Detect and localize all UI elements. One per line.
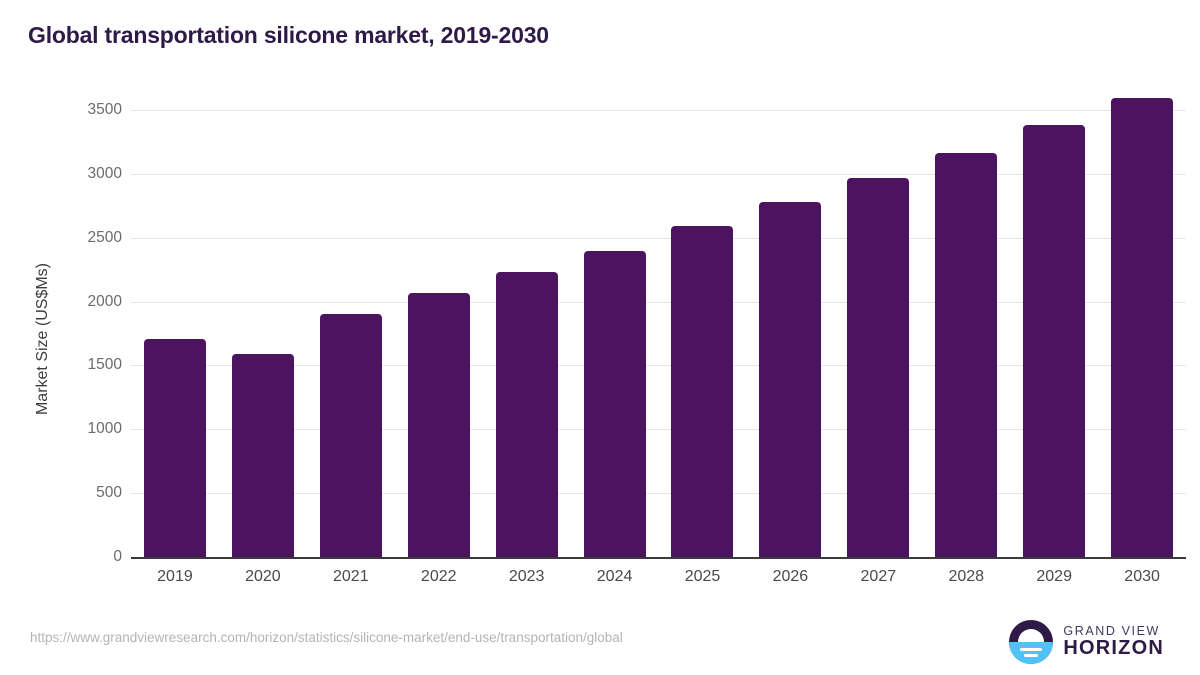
bar-2025[interactable] [671, 226, 733, 557]
bar-slot [659, 110, 747, 557]
bar-2022[interactable] [408, 293, 470, 557]
x-axis-tick-label: 2023 [483, 568, 571, 586]
logo-ray-2 [1024, 654, 1038, 657]
x-axis-line [131, 557, 1186, 559]
bar-slot [1098, 110, 1186, 557]
bar-slot [219, 110, 307, 557]
logo-dome-shape [1018, 629, 1044, 642]
y-axis-tick-labels: 0500100015002000250030003500 [60, 110, 122, 560]
x-axis-tick-label: 2029 [1010, 568, 1098, 586]
y-axis-tick-label: 2500 [60, 229, 122, 247]
plot-area: Market Size (US$Ms) 05001000150020002500… [0, 0, 1200, 605]
bar-slot [395, 110, 483, 557]
y-axis-title: Market Size (US$Ms) [34, 129, 52, 549]
logo-line-2: HORIZON [1063, 638, 1164, 659]
logo-wordmark: GRAND VIEW HORIZON [1063, 625, 1164, 659]
x-axis-tick-label: 2027 [834, 568, 922, 586]
bar-2030[interactable] [1111, 98, 1173, 557]
x-axis-tick-label: 2025 [659, 568, 747, 586]
y-axis-tick-label: 0 [60, 548, 122, 566]
bar-slot [746, 110, 834, 557]
x-axis-tick-label: 2021 [307, 568, 395, 586]
bar-slot [571, 110, 659, 557]
x-axis-tick-label: 2026 [746, 568, 834, 586]
y-axis-tick-label: 500 [60, 484, 122, 502]
x-axis-tick-label: 2030 [1098, 568, 1186, 586]
chart-page: Global transportation silicone market, 2… [0, 0, 1200, 675]
x-axis-tick-labels: 2019202020212022202320242025202620272028… [131, 568, 1186, 586]
source-url: https://www.grandviewresearch.com/horizo… [30, 630, 623, 645]
brand-logo: GRAND VIEW HORIZON [1009, 620, 1164, 664]
y-axis-tick-label: 2000 [60, 293, 122, 311]
x-axis-tick-label: 2024 [571, 568, 659, 586]
bar-slot [834, 110, 922, 557]
bar-2024[interactable] [584, 251, 646, 558]
bar-2019[interactable] [144, 339, 206, 557]
bar-2027[interactable] [847, 178, 909, 557]
x-axis-tick-label: 2020 [219, 568, 307, 586]
x-axis-tick-label: 2019 [131, 568, 219, 586]
y-axis-tick-label: 3500 [60, 101, 122, 119]
logo-ray-1 [1020, 648, 1042, 651]
bar-series [131, 110, 1186, 557]
bar-2029[interactable] [1023, 125, 1085, 557]
bar-slot [483, 110, 571, 557]
bar-2026[interactable] [759, 202, 821, 557]
bar-2028[interactable] [935, 153, 997, 557]
logo-sea-shape [1009, 642, 1053, 664]
horizon-sun-icon [1009, 620, 1053, 664]
bar-2021[interactable] [320, 314, 382, 557]
bar-slot [922, 110, 1010, 557]
y-axis-tick-label: 3000 [60, 165, 122, 183]
bar-slot [131, 110, 219, 557]
x-axis-tick-label: 2028 [922, 568, 1010, 586]
y-axis-tick-label: 1500 [60, 356, 122, 374]
bar-2023[interactable] [496, 272, 558, 557]
bar-2020[interactable] [232, 354, 294, 557]
bar-slot [1010, 110, 1098, 557]
y-axis-tick-label: 1000 [60, 420, 122, 438]
x-axis-tick-label: 2022 [395, 568, 483, 586]
bar-slot [307, 110, 395, 557]
